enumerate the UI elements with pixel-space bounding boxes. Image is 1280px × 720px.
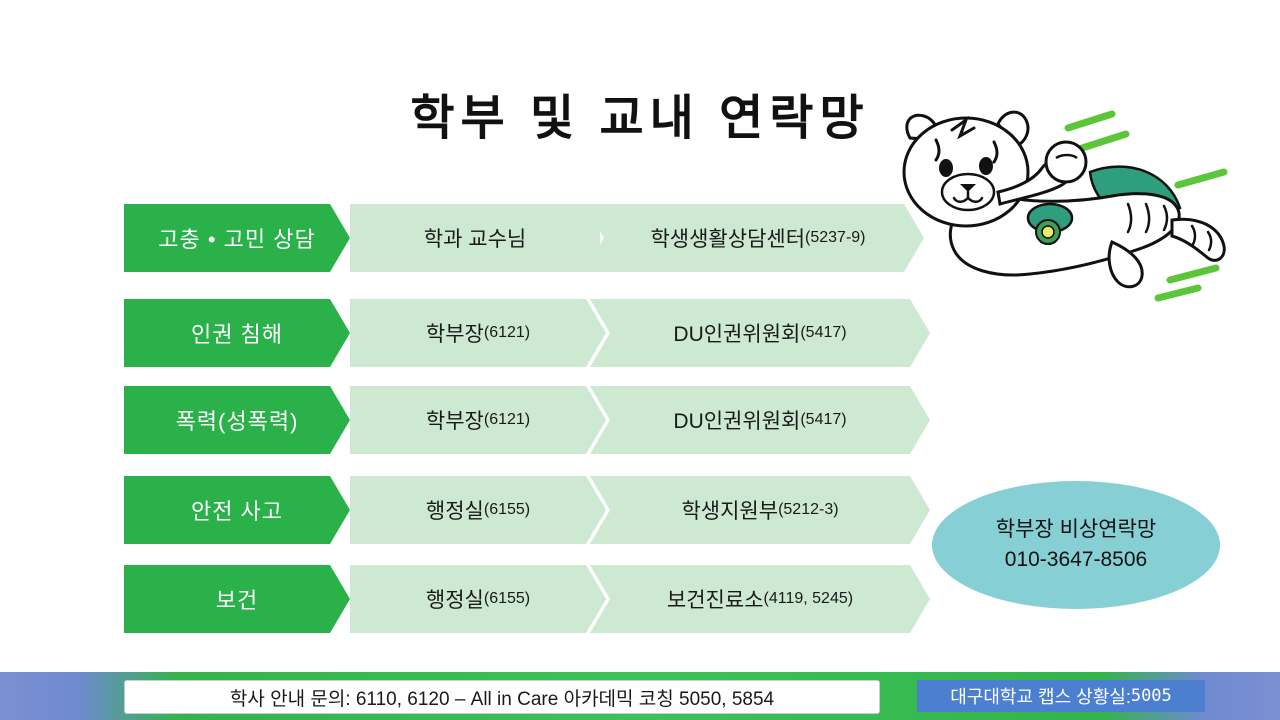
row-contact-primary: 학부장(6121) <box>350 386 606 454</box>
row-contact-secondary-text: 보건진료소 <box>667 584 764 614</box>
row-label-safety: 안전 사고 <box>124 476 350 544</box>
row-label-violence: 폭력(성폭력) <box>124 386 350 454</box>
row-label-counseling: 고충 • 고민 상담 <box>124 204 350 272</box>
row-contact-primary: 학과 교수님 <box>350 204 600 272</box>
flying-tiger-mascot-icon <box>880 100 1240 330</box>
row-contact-primary: 학부장(6121) <box>350 299 606 367</box>
row-contact-primary-text: 학부장 <box>426 318 484 348</box>
row-contact-secondary-text: 학생생활상담센터 <box>650 223 805 253</box>
row-contact-primary-ext: (6155) <box>484 501 530 519</box>
row-contact-primary-text: 행정실 <box>426 495 484 525</box>
row-contact-primary-ext: (6121) <box>484 324 530 342</box>
emergency-contact-title: 학부장 비상연락망 <box>996 515 1156 545</box>
row-contact-secondary: DU인권위원회(5417) <box>590 299 930 367</box>
footer-notice: 학사 안내 문의: 6110, 6120 – All in Care 아카데믹 … <box>124 680 880 714</box>
footer-security-info: 대구대학교 캡스 상황실:5005 <box>917 680 1205 712</box>
slide-canvas: 학부 및 교내 연락망 고충 • 고민 상담 학과 교수님 학생생활상담센터(5… <box>0 0 1280 720</box>
row-contact-secondary: DU인권위원회(5417) <box>590 386 930 454</box>
row-contact-secondary-ext: (5237-9) <box>805 229 865 247</box>
row-contact-primary-text: 행정실 <box>426 584 484 614</box>
row-contact-secondary: 학생지원부(5212-3) <box>590 476 930 544</box>
row-contact-secondary-ext: (5417) <box>800 411 846 429</box>
row-contact-primary: 행정실(6155) <box>350 476 606 544</box>
footer-security-label: 대구대학교 캡스 상황실: <box>950 683 1131 709</box>
row-contact-secondary-ext: (5212-3) <box>778 501 838 519</box>
row-contact-primary-ext: (6155) <box>484 590 530 608</box>
row-contact-secondary-ext: (4119, 5245) <box>764 590 854 608</box>
row-contact-secondary: 보건진료소(4119, 5245) <box>590 565 930 633</box>
footer-security-room: 5005 <box>1131 686 1172 706</box>
row-contact-secondary-text: DU인권위원회 <box>673 405 800 435</box>
row-contact-primary-text: 학부장 <box>426 405 484 435</box>
row-label-health: 보건 <box>124 565 350 633</box>
row-contact-secondary-text: 학생지원부 <box>681 495 778 525</box>
row-contact-secondary-ext: (5417) <box>800 324 846 342</box>
row-contact-primary: 행정실(6155) <box>350 565 606 633</box>
row-contact-secondary-text: DU인권위원회 <box>673 318 800 348</box>
emergency-contact-number: 010-3647-8506 <box>1005 545 1147 575</box>
row-label-human-rights: 인권 침해 <box>124 299 350 367</box>
emergency-contact-bubble: 학부장 비상연락망 010-3647-8506 <box>932 481 1220 609</box>
row-contact-primary-text: 학과 교수님 <box>424 223 526 253</box>
row-contact-primary-ext: (6121) <box>484 411 530 429</box>
